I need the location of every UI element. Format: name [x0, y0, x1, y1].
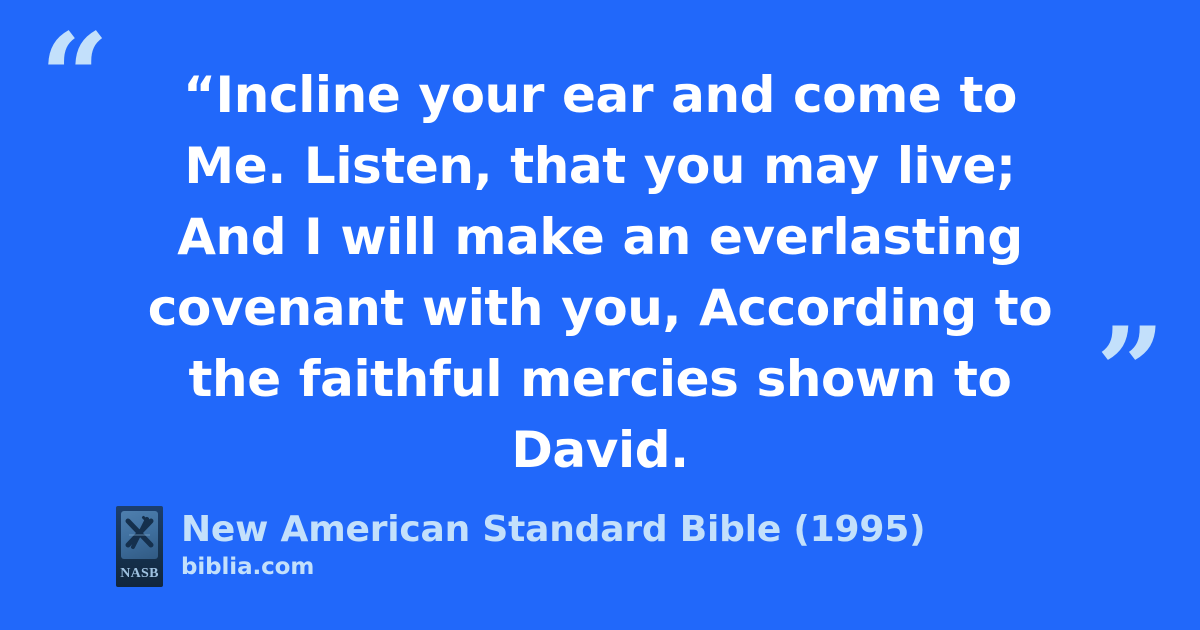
verse-image-card: “ ” “Incline your ear and come to Me. Li…: [0, 0, 1200, 630]
verse-text: “Incline your ear and come to Me. Listen…: [130, 60, 1070, 486]
website-label[interactable]: biblia.com: [181, 552, 925, 582]
open-quote-mark: “: [40, 18, 109, 138]
translation-title: New American Standard Bible (1995): [181, 508, 925, 552]
nasb-wordmark: NASB: [116, 567, 163, 581]
nasb-cross-sword-icon: [121, 511, 158, 559]
close-quote-mark: ”: [1096, 312, 1165, 432]
nasb-logo-icon: NASB: [116, 506, 163, 587]
attribution-block: NASB New American Standard Bible (1995) …: [116, 506, 925, 587]
attribution-text: New American Standard Bible (1995) bibli…: [181, 506, 925, 582]
